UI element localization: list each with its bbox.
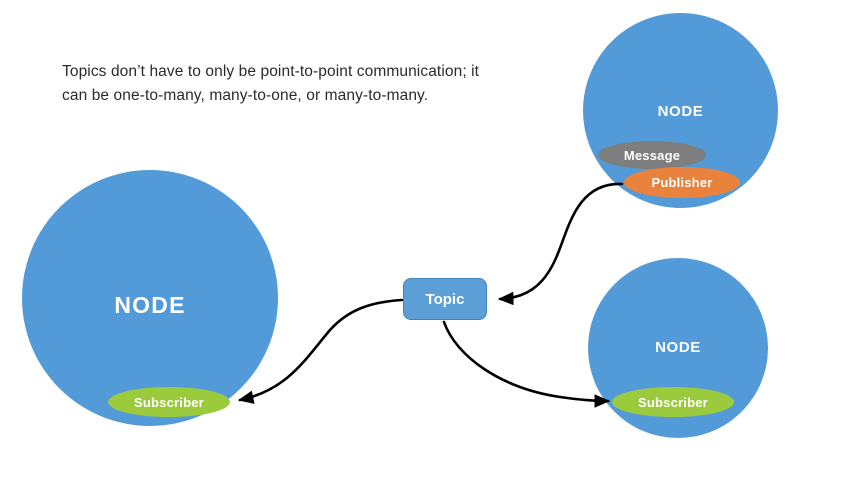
- subscriber-pill-bottom-right: Subscriber: [612, 387, 734, 417]
- publisher-pill: Publisher: [624, 167, 740, 198]
- diagram-canvas: Topics don’t have to only be point-to-po…: [0, 0, 854, 480]
- message-pill: Message: [598, 141, 706, 169]
- subscriber-pill-left-label: Subscriber: [134, 395, 204, 410]
- subscriber-pill-bottom-right-label: Subscriber: [638, 395, 708, 410]
- caption-text: Topics don’t have to only be point-to-po…: [62, 60, 482, 108]
- topic-box: Topic: [403, 278, 487, 320]
- arrow-publisher-to-topic: [500, 184, 622, 299]
- subscriber-pill-left: Subscriber: [108, 387, 230, 417]
- publisher-pill-label: Publisher: [651, 175, 712, 190]
- topic-box-label: Topic: [426, 291, 465, 308]
- node-label-bottom-right: NODE: [588, 339, 768, 356]
- arrow-topic-to-subscriber-bottom-right: [444, 322, 608, 401]
- message-pill-label: Message: [624, 148, 680, 163]
- node-label-left: NODE: [22, 292, 278, 319]
- node-label-top-right: NODE: [583, 103, 778, 120]
